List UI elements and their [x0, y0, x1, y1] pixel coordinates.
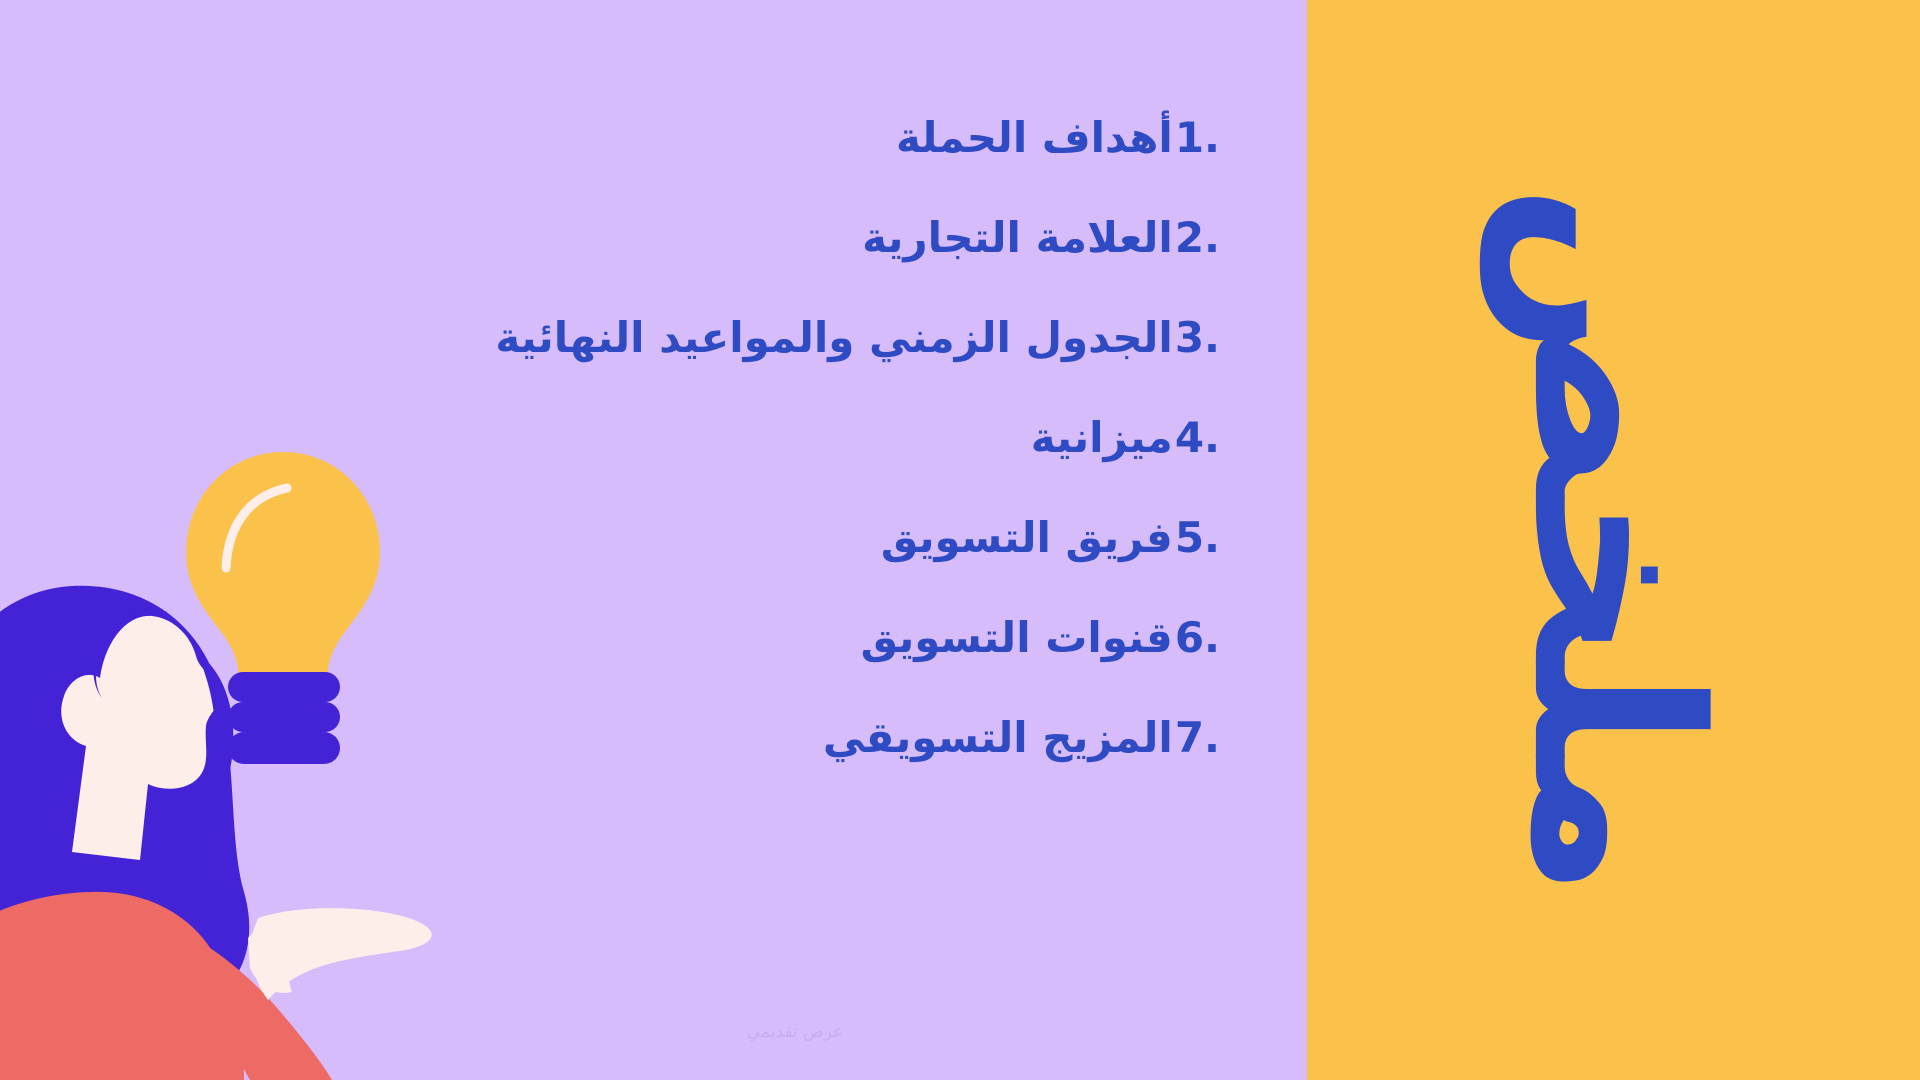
- agenda-item-3[interactable]: 3. الجدول الزمني والمواعيد النهائية: [210, 288, 1220, 388]
- agenda-item-label: الجدول الزمني والمواعيد النهائية: [495, 288, 1173, 388]
- slide-canvas: 1. أهداف الحملة 2. العلامة التجارية 3. ا…: [0, 0, 1920, 1080]
- agenda-item-label: قنوات التسويق: [861, 588, 1173, 688]
- agenda-item-number: 2.: [1175, 188, 1220, 288]
- agenda-item-label: ميزانية: [1031, 388, 1173, 488]
- agenda-item-number: 3.: [1175, 288, 1220, 388]
- agenda-item-label: المزيج التسويقي: [823, 688, 1173, 788]
- agenda-item-5[interactable]: 5. فريق التسويق: [210, 488, 1220, 588]
- agenda-item-number: 1.: [1175, 88, 1220, 188]
- agenda-item-number: 5.: [1175, 488, 1220, 588]
- agenda-item-7[interactable]: 7. المزيج التسويقي: [210, 688, 1220, 788]
- agenda-item-number: 4.: [1175, 388, 1220, 488]
- side-title-wrapper: ملخص: [1307, 234, 1920, 847]
- agenda-item-4[interactable]: 4. ميزانية: [210, 388, 1220, 488]
- agenda-item-6[interactable]: 6. قنوات التسويق: [210, 588, 1220, 688]
- agenda-item-2[interactable]: 2. العلامة التجارية: [210, 188, 1220, 288]
- agenda-item-label: العلامة التجارية: [862, 188, 1173, 288]
- watermark-text: عرض تقديمي: [690, 1022, 900, 1052]
- agenda-item-number: 7.: [1175, 688, 1220, 788]
- agenda-item-1[interactable]: 1. أهداف الحملة: [210, 88, 1220, 188]
- side-panel: ملخص: [1307, 0, 1920, 1080]
- slide-title-vertical: ملخص: [1499, 182, 1729, 898]
- agenda-item-label: أهداف الحملة: [896, 88, 1173, 188]
- agenda-list: 1. أهداف الحملة 2. العلامة التجارية 3. ا…: [210, 88, 1220, 788]
- agenda-item-number: 6.: [1175, 588, 1220, 688]
- agenda-item-label: فريق التسويق: [881, 488, 1173, 588]
